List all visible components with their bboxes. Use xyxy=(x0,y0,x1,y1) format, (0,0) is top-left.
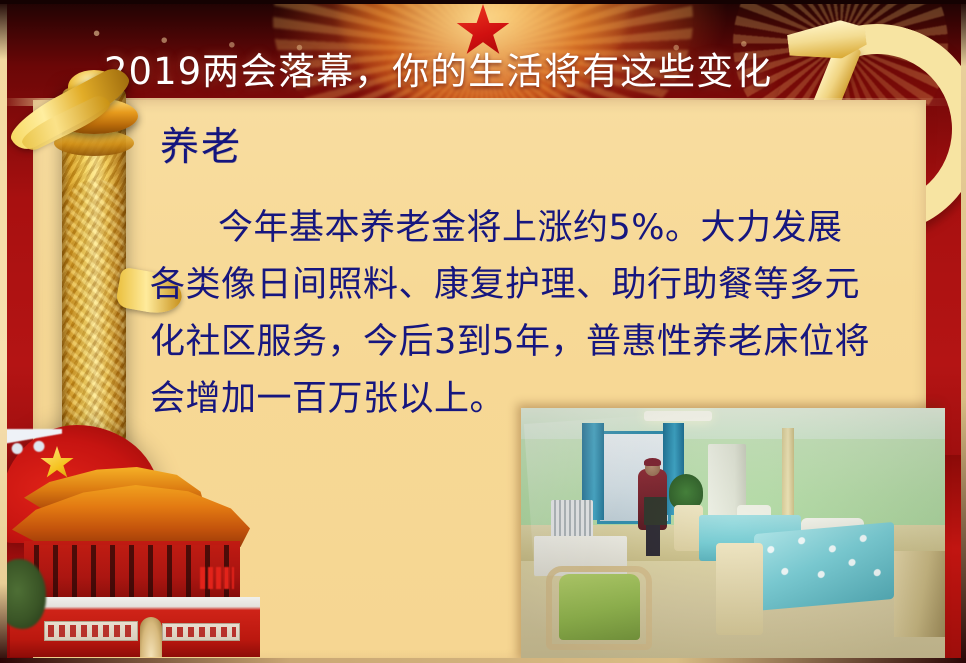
photo-vignette xyxy=(521,408,945,663)
body-text: 今年基本养老金将上涨约5%。大力发展 各类像日间照料、康复护理、助行助餐等多元 … xyxy=(150,200,910,428)
gate-lanterns xyxy=(200,567,234,589)
body-line-3: 化社区服务，今后3到5年，普惠性养老床位将 xyxy=(150,314,910,371)
frame-edge-bottom xyxy=(0,658,966,663)
body-line-1: 今年基本养老金将上涨约5%。大力发展 xyxy=(150,200,910,257)
plaque-glyphs xyxy=(166,627,236,637)
frame-edge-right xyxy=(961,0,966,663)
flag-spikes xyxy=(0,429,62,457)
frame-edge-top xyxy=(0,0,966,4)
presentation-slide: 2019两会落幕，你的生活将有这些变化 养老 今年基本养老金将上涨约5% xyxy=(0,0,966,663)
gate-plaque-right xyxy=(162,623,240,641)
gate-plaque-left xyxy=(44,621,138,641)
section-heading: 养老 xyxy=(160,124,242,172)
frame-edge-left xyxy=(0,0,7,663)
slide-title: 2019两会落幕，你的生活将有这些变化 xyxy=(104,44,772,100)
body-line-2: 各类像日间照料、康复护理、助行助餐等多元 xyxy=(150,257,910,314)
photo-content xyxy=(521,408,945,663)
gate-arch xyxy=(140,617,162,657)
plaque-glyphs xyxy=(48,625,134,637)
nursing-home-room-photo xyxy=(521,408,945,663)
